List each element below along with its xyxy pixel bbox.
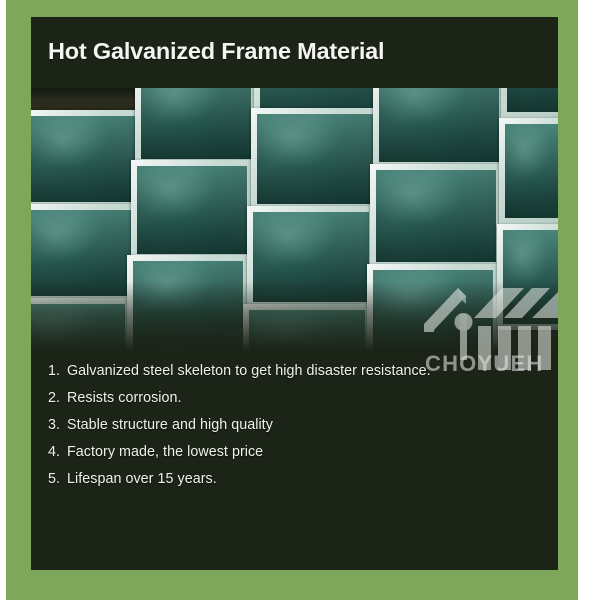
feature-list: 1. Galvanized steel skeleton to get high… — [31, 351, 558, 498]
list-item-label: Lifespan over 15 years. — [67, 471, 217, 487]
steel-tube — [499, 118, 558, 224]
list-item-number: 3. — [48, 417, 67, 433]
list-item-label: Galvanized steel skeleton to get high di… — [67, 363, 431, 379]
steel-tube-sheen — [137, 166, 247, 254]
steel-tube — [501, 88, 558, 118]
steel-tube-bore — [376, 170, 496, 262]
steel-tube-sheen — [505, 124, 558, 218]
list-item: 5. Lifespan over 15 years. — [48, 471, 558, 498]
list-item: 2. Resists corrosion. — [48, 390, 558, 417]
list-item: 4. Factory made, the lowest price — [48, 444, 558, 471]
steel-tube-bore — [257, 114, 373, 204]
title-bar: Hot Galvanized Frame Material — [31, 17, 558, 88]
list-item-label: Factory made, the lowest price — [67, 444, 263, 460]
list-item-number: 1. — [48, 363, 67, 379]
list-item: 1. Galvanized steel skeleton to get high… — [48, 363, 558, 390]
steel-tube-bore — [507, 88, 558, 112]
steel-tube-sheen — [141, 88, 251, 159]
steel-tube-bore — [31, 116, 137, 202]
steel-tube-sheen — [376, 170, 496, 262]
steel-tube — [251, 108, 379, 210]
steel-tube-sheen — [507, 88, 558, 112]
list-item-number: 2. — [48, 390, 67, 406]
list-item-label: Resists corrosion. — [67, 390, 182, 406]
product-card-panel: Hot Galvanized Frame Material CHOYU — [31, 17, 558, 570]
steel-tube — [370, 164, 502, 268]
steel-tube-bore — [141, 88, 251, 159]
list-item-label: Stable structure and high quality — [67, 417, 273, 433]
list-item-number: 5. — [48, 471, 67, 487]
steel-tube-bore — [505, 124, 558, 218]
steel-tube — [31, 110, 143, 208]
list-item-number: 4. — [48, 444, 67, 460]
steel-tube — [135, 88, 257, 165]
page-title: Hot Galvanized Frame Material — [48, 38, 384, 65]
product-card-frame: Hot Galvanized Frame Material CHOYU — [6, 0, 578, 600]
steel-tube-sheen — [257, 114, 373, 204]
steel-tube-sheen — [31, 116, 137, 202]
steel-tube-sheen — [379, 88, 499, 162]
steel-tube — [373, 88, 505, 168]
steel-tube-bore — [137, 166, 247, 254]
list-item: 3. Stable structure and high quality — [48, 417, 558, 444]
steel-tube — [131, 160, 253, 260]
steel-tube-bore — [379, 88, 499, 162]
